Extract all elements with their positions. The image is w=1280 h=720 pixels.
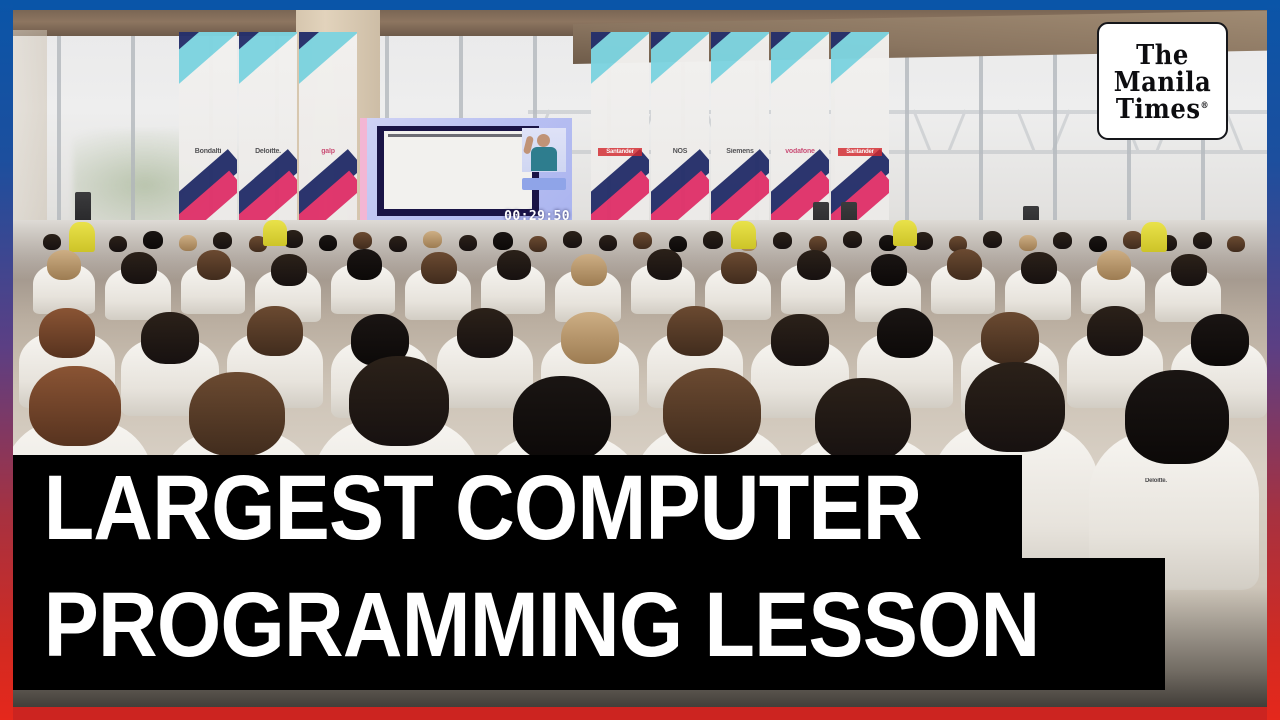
sponsor-banner: Deloitte.	[239, 32, 297, 232]
caption-line-1: LARGEST COMPUTER	[13, 462, 922, 551]
sponsor-banner: Bondalti	[179, 32, 237, 232]
sponsor-banner-logo: Santander	[598, 148, 642, 156]
window-mullion	[131, 32, 135, 247]
news-video-still: Bondalti Deloitte. galp Santander NOS Si…	[0, 0, 1280, 720]
frame-border-right	[1267, 0, 1280, 720]
sponsor-banner: Santander	[831, 32, 889, 232]
staff-member	[69, 222, 95, 252]
projection-screen	[377, 126, 539, 216]
staff-member	[1141, 222, 1167, 252]
the-manila-times-logo: The Manila Times®	[1097, 22, 1228, 140]
sponsor-banner: Santander	[591, 32, 649, 232]
caption-line-2-box: PROGRAMMING LESSON	[13, 558, 1165, 690]
sponsor-banner-logo: Deloitte.	[239, 148, 297, 155]
sponsor-banner-logo: Siemens	[711, 148, 769, 155]
lower-third-caption: LARGEST COMPUTER PROGRAMMING LESSON	[13, 455, 1165, 690]
staff-member	[893, 220, 917, 246]
staff-member	[731, 221, 756, 249]
sponsor-banner-logo: NOS	[651, 148, 709, 155]
sponsor-banner: galp	[299, 32, 357, 232]
registered-trademark-icon: ®	[1201, 101, 1210, 111]
structural-column	[13, 30, 47, 240]
sponsor-banner-logo: vodafone	[771, 148, 829, 155]
logo-line-manila: Manila	[1114, 69, 1212, 96]
speaker-name-plate	[522, 178, 566, 190]
staff-member	[263, 220, 287, 246]
logo-line-times: Times®	[1116, 96, 1209, 123]
sponsor-banner: Siemens	[711, 32, 769, 232]
frame-border-left	[0, 0, 13, 720]
sponsor-banner-logo: Santander	[838, 148, 882, 156]
speaker-video-inset	[522, 128, 566, 172]
sponsor-banner-logo: Bondalti	[179, 148, 237, 155]
window-mullion	[57, 32, 61, 247]
frame-border-bottom	[0, 707, 1280, 720]
logo-times-word: Times	[1116, 94, 1201, 125]
sponsor-banner-logo: galp	[299, 148, 357, 155]
logo-line-the: The	[1136, 42, 1189, 69]
stage-display-panel: 00:29:50	[360, 118, 572, 228]
sponsor-banner: NOS	[651, 32, 709, 232]
caption-line-2: PROGRAMMING LESSON	[13, 581, 1039, 668]
frame-border-top	[0, 0, 1280, 10]
caption-line-1-box: LARGEST COMPUTER	[13, 455, 1022, 558]
